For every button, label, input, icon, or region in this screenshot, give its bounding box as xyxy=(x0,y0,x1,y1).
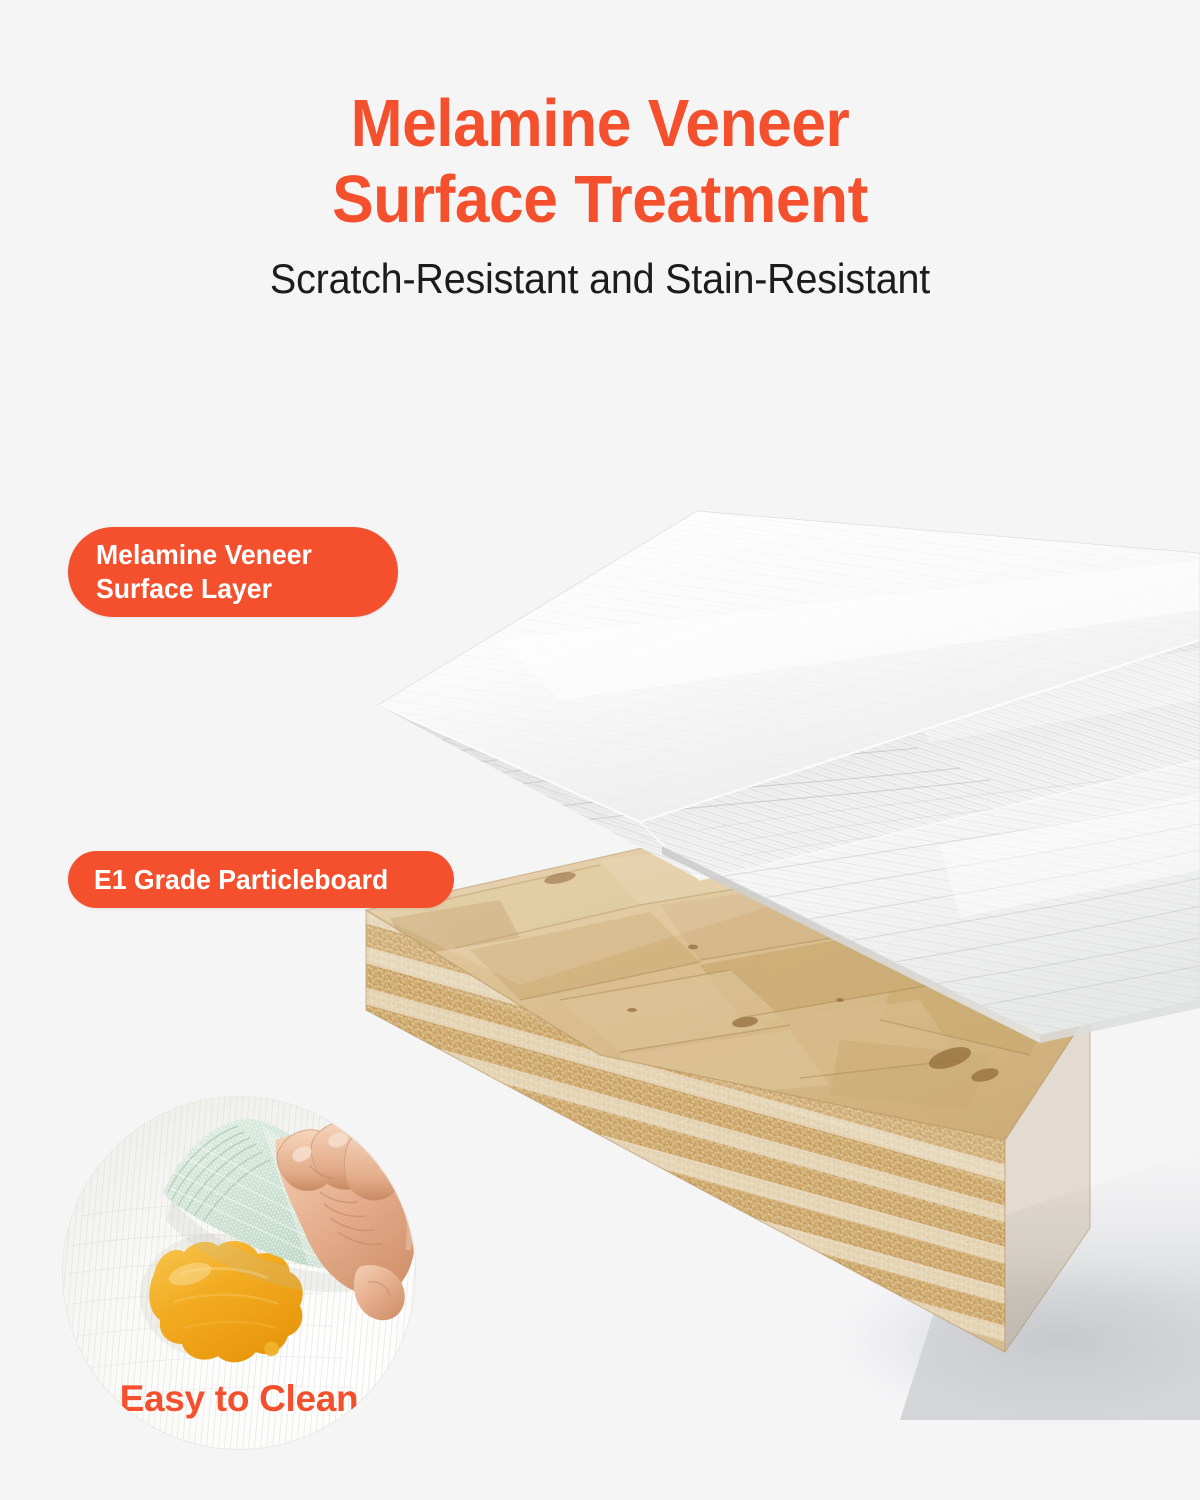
callout-board-label: E1 Grade Particleboard xyxy=(94,863,388,897)
product-feature-page: Melamine Veneer Surface Treatment Scratc… xyxy=(0,0,1200,1500)
callout-melamine-veneer-surface-layer[interactable]: Melamine Veneer Surface Layer xyxy=(68,527,398,617)
easy-to-clean-photo-circle[interactable]: Easy to Clean xyxy=(62,1096,416,1450)
easy-to-clean-label: Easy to Clean xyxy=(62,1379,416,1419)
callout-e1-grade-particleboard[interactable]: E1 Grade Particleboard xyxy=(68,851,454,908)
callout-veneer-label: Melamine Veneer Surface Layer xyxy=(96,538,312,606)
